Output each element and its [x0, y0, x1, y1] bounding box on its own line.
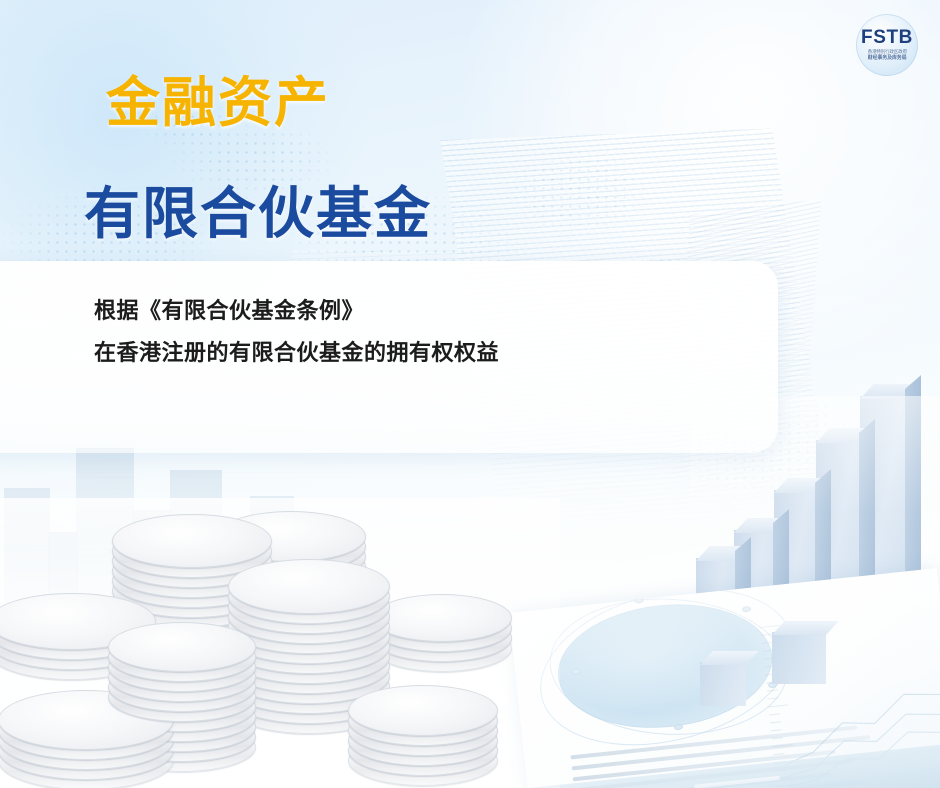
slide-heading-gold: 金融资产	[106, 76, 330, 130]
slide-heading-blue: 有限合伙基金	[84, 186, 432, 242]
content-card-body: 根据《有限合伙基金条例》 在香港注册的有限合伙基金的拥有权权益	[94, 297, 499, 366]
coin	[108, 622, 256, 672]
fstb-logo-cn-line2: 财经事务及库务局	[868, 56, 907, 61]
small-cube-front	[700, 662, 746, 706]
content-line-1: 根据《有限合伙基金条例》	[94, 297, 499, 325]
coin	[228, 559, 390, 614]
fstb-logo: FSTB 香港特别行政区政府 财经事务及库务局	[856, 14, 918, 76]
small-cube-back	[772, 632, 826, 684]
presentation-slide: FSTB 香港特别行政区政府 财经事务及库务局 金融资产 有限合伙基金 根据《有…	[0, 0, 940, 788]
coin	[372, 594, 512, 642]
coin	[348, 685, 498, 736]
coin-stacks	[0, 498, 560, 788]
content-card: 根据《有限合伙基金条例》 在香港注册的有限合伙基金的拥有权权益	[0, 261, 778, 453]
content-line-2: 在香港注册的有限合伙基金的拥有权权益	[94, 339, 499, 367]
fstb-logo-cn-line1: 香港特别行政区政府	[867, 50, 906, 55]
coin	[112, 514, 272, 568]
fstb-logo-mark: FSTB	[861, 28, 913, 47]
